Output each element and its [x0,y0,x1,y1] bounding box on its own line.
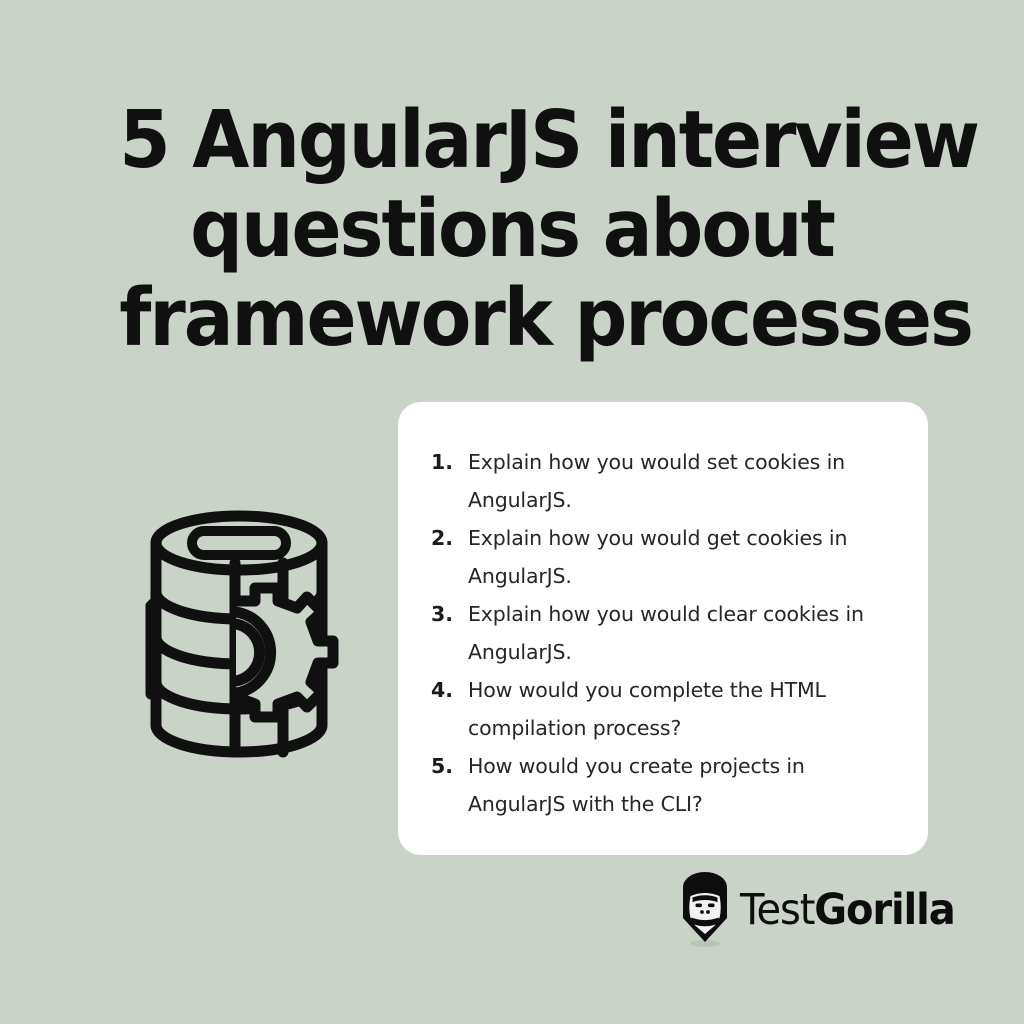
list-item: 4. How would you complete the HTML compi… [431,671,906,747]
gorilla-pencil-icon [678,872,732,948]
list-item-number: 4. [431,671,468,709]
list-item-number: 3. [431,595,468,633]
page-title-line-1: 5 AngularJS interview [119,96,904,185]
wordmark-gorilla: Gorilla [814,885,954,935]
page-title-line-2: questions about [119,185,904,274]
list-item: 1. Explain how you would set cookies in … [431,443,906,519]
list-item-text: Explain how you would get cookies in Ang… [468,519,906,595]
list-item-text: Explain how you would clear cookies in A… [468,595,906,671]
page-title: 5 AngularJS interview questions about fr… [92,96,932,363]
poster-canvas: 5 AngularJS interview questions about fr… [0,0,1024,1024]
list-item: 3. Explain how you would clear cookies i… [431,595,906,671]
database-gear-document-illustration [100,500,368,768]
questions-card: 1. Explain how you would set cookies in … [398,402,928,855]
list-item-number: 1. [431,443,468,481]
list-item-text: How would you create projects in Angular… [468,747,906,823]
list-item-number: 2. [431,519,468,557]
list-item-text: How would you complete the HTML compilat… [468,671,906,747]
list-item-text: Explain how you would set cookies in Ang… [468,443,906,519]
testgorilla-logo: TestGorilla [678,872,971,948]
list-item-number: 5. [431,747,468,785]
questions-list: 1. Explain how you would set cookies in … [431,443,906,823]
wordmark-test: Test [740,885,814,935]
testgorilla-wordmark: TestGorilla [740,886,955,934]
list-item: 2. Explain how you would get cookies in … [431,519,906,595]
page-title-line-3: framework processes [119,274,904,363]
list-item: 5. How would you create projects in Angu… [431,747,906,823]
